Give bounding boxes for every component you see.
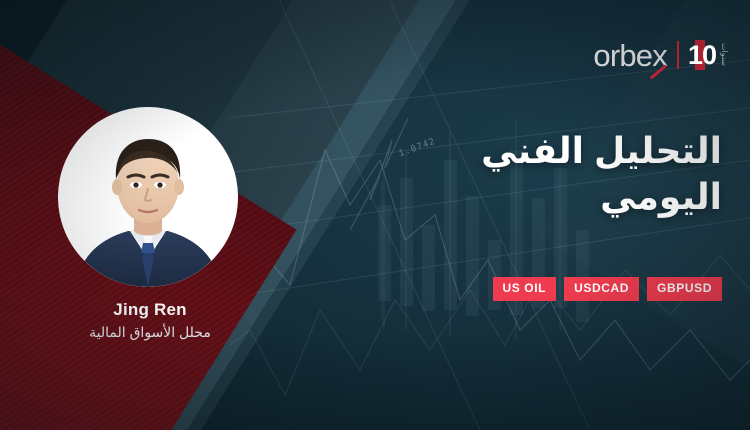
anniversary-number: 10 [688,42,716,69]
orbex-daily-analysis-banner: 1.0742 [0,0,750,430]
background-vignette [0,0,750,430]
anniversary-number-text: 10 [688,40,716,70]
